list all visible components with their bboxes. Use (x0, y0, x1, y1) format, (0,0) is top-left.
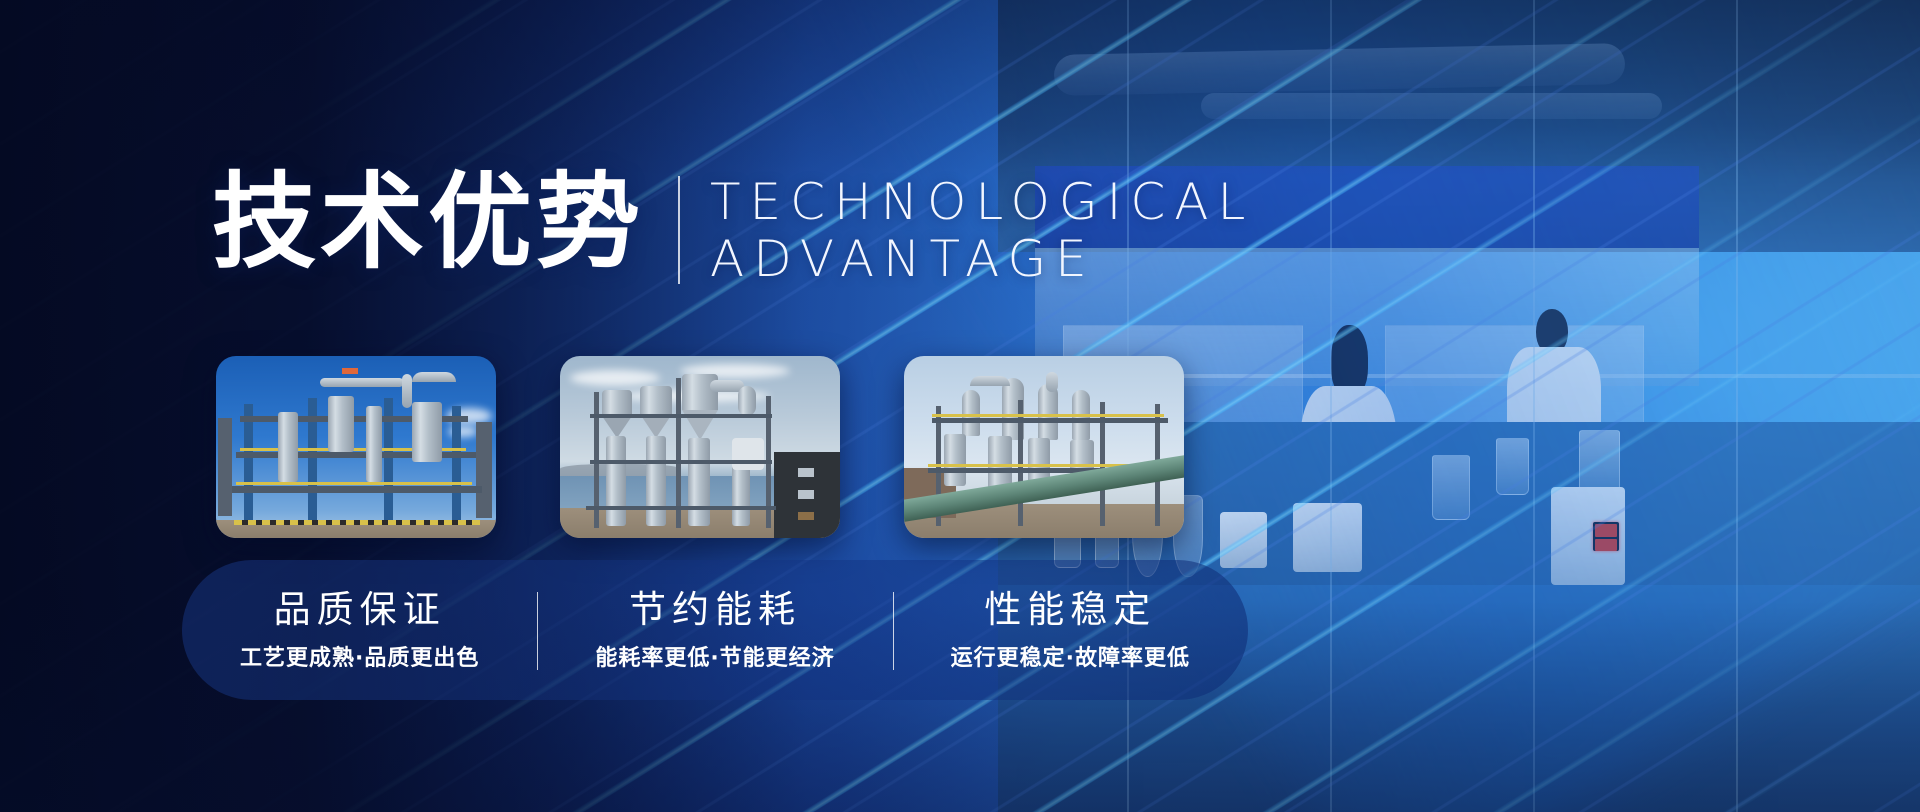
vapor-separator (602, 390, 632, 416)
banner-content: 技术优势 TECHNOLOGICAL ADVANTAGE (0, 0, 1920, 812)
process-vessel (944, 434, 966, 486)
heat-exchanger-tube (646, 436, 666, 526)
handrail (236, 482, 472, 485)
headline-english-line1: TECHNOLOGICAL (710, 174, 1254, 231)
photo-card-row (216, 356, 1184, 538)
heat-exchanger-tube (688, 438, 710, 526)
platform-beam (590, 414, 772, 418)
building-window (798, 490, 814, 499)
platform-beam (932, 418, 1168, 423)
feature-title: 性能稳定 (984, 588, 1156, 632)
technological-advantage-banner: 技术优势 TECHNOLOGICAL ADVANTAGE (0, 0, 1920, 812)
feature-panel: 品质保证 工艺更成熟·品质更出色 节约能耗 能耗率更低·节能更经济 性能稳定 运… (182, 560, 1248, 700)
platform-beam (590, 460, 772, 464)
mvr-compressor (738, 386, 756, 416)
flag-marker-icon (342, 368, 358, 374)
vertical-vessel (278, 412, 298, 482)
headline-english: TECHNOLOGICAL ADVANTAGE (710, 170, 1254, 288)
vertical-vessel (366, 406, 382, 482)
building-window (798, 512, 814, 520)
vertical-rule-icon (678, 176, 680, 284)
vertical-vessel (412, 402, 442, 462)
riser-pipe (402, 374, 412, 408)
riser-pipe (1046, 372, 1058, 392)
overhead-pipe (412, 372, 456, 382)
platform-beam (586, 506, 776, 510)
vapor-separator (682, 374, 718, 410)
feature-subtitle: 工艺更成熟·品质更出色 (240, 640, 479, 672)
photo-card-pipe-bridge-plant[interactable] (904, 356, 1184, 538)
feature-title: 品质保证 (274, 588, 446, 632)
control-cabinet (732, 438, 764, 470)
vapor-separator (640, 386, 672, 414)
headline-chinese: 技术优势 (212, 170, 644, 276)
building-window (798, 468, 814, 477)
headline-block: 技术优势 TECHNOLOGICAL ADVANTAGE (212, 170, 1254, 288)
distillation-column (1038, 384, 1058, 440)
feature-subtitle: 运行更稳定·故障率更低 (951, 640, 1190, 672)
separator-cone (602, 416, 632, 438)
distillation-tower (218, 418, 232, 516)
feature-stable-performance[interactable]: 性能稳定 运行更稳定·故障率更低 (893, 560, 1248, 700)
photo-card-chemical-plant[interactable] (216, 356, 496, 538)
vertical-vessel (328, 396, 354, 452)
handrail (932, 414, 1164, 417)
platform-beam (232, 486, 482, 493)
vapor-duct (970, 376, 1010, 386)
distillation-tower (476, 422, 492, 518)
headline-english-line2: ADVANTAGE (710, 231, 1254, 288)
steel-column (452, 406, 461, 520)
heat-exchanger-tube (606, 436, 626, 526)
hazard-kerb (234, 520, 480, 525)
cloud-icon (570, 370, 660, 386)
feature-energy-saving[interactable]: 节约能耗 能耗率更低·节能更经济 (537, 560, 892, 700)
overhead-pipe (320, 378, 404, 387)
feature-subtitle: 能耗率更低·节能更经济 (595, 640, 834, 672)
feature-quality[interactable]: 品质保证 工艺更成熟·品质更出色 (182, 560, 537, 700)
feature-title: 节约能耗 (629, 588, 801, 632)
photo-card-evaporator-towers[interactable] (560, 356, 840, 538)
distillation-column (962, 390, 980, 436)
